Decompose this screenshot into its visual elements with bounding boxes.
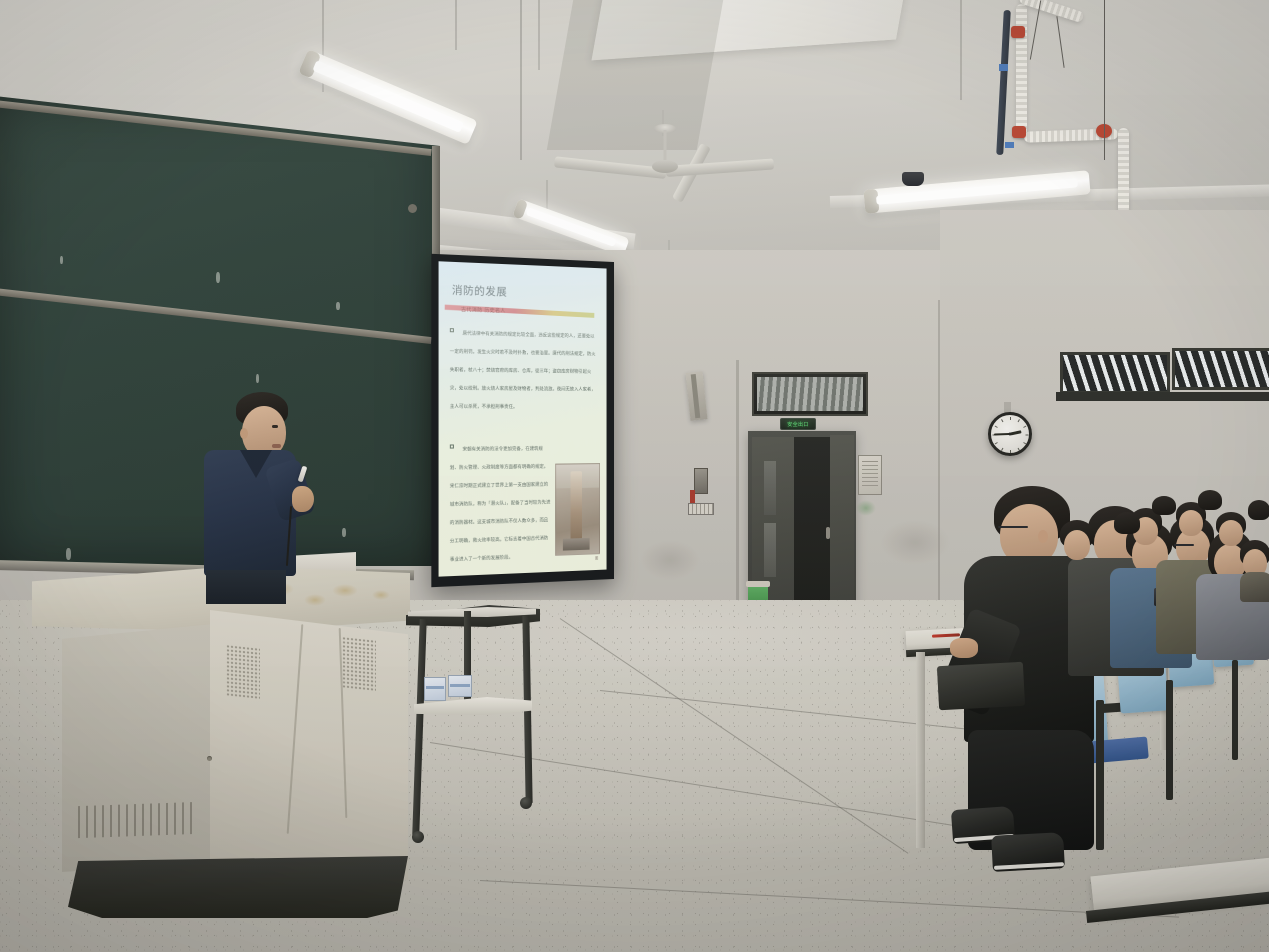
student-hand — [950, 638, 978, 658]
slide-bullet-one-box: 唐代法律中有关消防的规定比较全面，违反这些规定的人，还要处以一定的刑罚。发生火灾… — [450, 321, 598, 413]
supply-box-a — [424, 677, 446, 701]
clock-tick — [1010, 417, 1011, 420]
slide-title: 消防的发展 — [452, 282, 507, 299]
student-12 — [1248, 500, 1269, 534]
wall-green-stain — [856, 500, 876, 516]
slide-bullet-one-text: 唐代法律中有关消防的规定比较全面，违反这些规定的人，还要处以一定的刑罚。发生火灾… — [450, 331, 596, 409]
door-transom-window — [752, 372, 868, 416]
clock-tick — [1023, 426, 1026, 428]
presentation-slide: 消防的发展 古代消防 历史名人 唐代法律中有关消防的规定比较全面，违反这些规定的… — [439, 261, 607, 576]
wall-notice-board — [858, 455, 882, 495]
fan-hub — [652, 160, 678, 173]
cart-leg-front-left — [412, 619, 427, 835]
door-glass-panel-lower — [764, 523, 776, 577]
exit-sign: 安全出口 — [780, 418, 816, 430]
instructor-ear — [240, 428, 248, 439]
ceiling-seam-a — [520, 0, 522, 160]
illustration-base — [563, 538, 590, 551]
clock-tick — [1023, 442, 1026, 444]
equipment-case-under-desk — [937, 662, 1025, 710]
pipe-blue-tape-lower — [1005, 142, 1014, 148]
emergency-red-label — [690, 490, 695, 504]
window-reflection — [1175, 351, 1269, 387]
podium-base-plinth — [68, 856, 408, 918]
window-reflection — [1063, 355, 1167, 391]
bullet-square-icon — [450, 328, 454, 332]
fan-blade-right — [666, 158, 775, 177]
chair-frame-2 — [1166, 680, 1173, 800]
transom-louvers — [757, 377, 863, 411]
clock-tick — [1018, 419, 1020, 422]
door-leaf-right[interactable] — [830, 435, 854, 621]
cart-caster-left — [412, 831, 424, 843]
clock-tick — [1010, 450, 1011, 453]
screen-hook — [408, 204, 417, 213]
light-switch-bank[interactable] — [688, 503, 714, 515]
pipe-clamp-top — [1011, 26, 1025, 38]
slide-subtitle: 古代消防 历史名人 — [461, 306, 505, 314]
notice-text-lines — [862, 461, 878, 462]
student-hair — [1152, 496, 1176, 515]
clock-tick — [995, 442, 998, 444]
wall-smudge-b — [640, 540, 700, 580]
clock-tick — [1001, 419, 1003, 422]
slide-bullet-two-text: 宋朝有关消防的法令更加完备，在建筑规划、防火管理、火政制度等方面都有明确的规定。… — [450, 447, 551, 563]
clock-tick — [1018, 448, 1020, 451]
ceiling-fan-1 — [560, 130, 770, 200]
projection-screen[interactable]: 消防的发展 古代消防 历史名人 唐代法律中有关消防的规定比较全面，违反这些规定的… — [431, 254, 614, 587]
podium-vent-slots — [78, 802, 198, 838]
door-handle[interactable] — [826, 527, 830, 539]
desk-leg-row1-left — [916, 652, 925, 848]
chalk-mark-c — [336, 302, 340, 310]
pipe-blue-tape-upper — [999, 64, 1008, 71]
slide-image-caption: 图 — [595, 555, 598, 560]
student-ear — [1038, 530, 1048, 543]
fan-stem — [664, 130, 667, 162]
student-6 — [1060, 520, 1100, 570]
supply-box-b — [448, 675, 472, 697]
flex-hose-descend — [1118, 128, 1129, 214]
chair-frame-3 — [1232, 660, 1238, 760]
exit-sign-label: 安全出口 — [787, 421, 809, 428]
wall-smudge-a — [880, 520, 950, 565]
bullet-square-icon — [450, 444, 454, 448]
rolling-cart[interactable] — [406, 605, 542, 845]
instructor-hand — [292, 486, 314, 512]
student-11 — [1114, 512, 1144, 550]
podium-stain-d — [372, 590, 390, 600]
window-header-band — [1056, 392, 1269, 401]
slide-bullet-two-box: 宋朝有关消防的法令更加完备，在建筑规划、防火管理、火政制度等方面都有明确的规定。… — [450, 437, 551, 566]
chalk-mark-b — [256, 374, 259, 383]
podium-lock[interactable] — [207, 756, 212, 761]
student-hair — [1248, 500, 1269, 520]
instructor-lower-body — [206, 570, 286, 604]
podium-vent-dots-left — [226, 644, 260, 700]
wall-clock — [988, 412, 1032, 456]
podium-vent-dots-right — [342, 636, 376, 692]
pipe-clamp-mid — [1012, 126, 1026, 138]
ceiling-panel-shadow-a — [547, 0, 723, 150]
chalk-mark-d — [342, 528, 346, 537]
eyeglasses — [998, 526, 1028, 528]
slide-illustration-image — [555, 463, 600, 556]
projector-mount — [902, 172, 924, 186]
student-14 — [1152, 496, 1178, 526]
fan-blade-left — [554, 156, 667, 179]
flex-hose-vertical — [1016, 4, 1027, 138]
clock-tick — [995, 426, 998, 428]
student-hair — [1198, 490, 1222, 510]
student-head — [1064, 530, 1090, 560]
high-window-left — [1060, 352, 1170, 394]
light-rod-2 — [455, 0, 457, 50]
instructor-eye — [272, 425, 278, 428]
high-window-right — [1172, 348, 1269, 390]
instructor-mouth — [272, 444, 281, 448]
instructor — [196, 392, 336, 602]
student-13 — [1198, 490, 1224, 522]
clock-tick — [1001, 448, 1003, 451]
door-glass-panel-upper — [764, 461, 776, 515]
student-hair — [1114, 512, 1140, 534]
chalk-mark-e — [66, 548, 71, 560]
multimedia-podium[interactable] — [32, 566, 412, 936]
clock-center-pin — [1009, 433, 1012, 436]
clock-tick — [1026, 435, 1029, 436]
podium-design-line-a — [287, 624, 304, 834]
chalk-mark-f — [60, 256, 63, 264]
chalk-mark-a — [216, 272, 220, 283]
student-10 — [1240, 540, 1269, 600]
fan-rod-1 — [538, 0, 540, 70]
classroom-scene: 消防的发展 古代消防 历史名人 唐代法律中有关消防的规定比较全面，违反这些规定的… — [0, 0, 1269, 952]
electrical-panel-box[interactable] — [694, 468, 708, 494]
wall-seam-vertical — [938, 300, 940, 640]
student-torso — [1240, 572, 1269, 602]
illustration-fire-tower — [571, 471, 582, 541]
ceiling-seam-b — [960, 0, 962, 100]
cart-caster-right — [520, 797, 532, 809]
wall-seam-column — [736, 360, 739, 630]
ceiling-wire-a — [1104, 0, 1105, 160]
